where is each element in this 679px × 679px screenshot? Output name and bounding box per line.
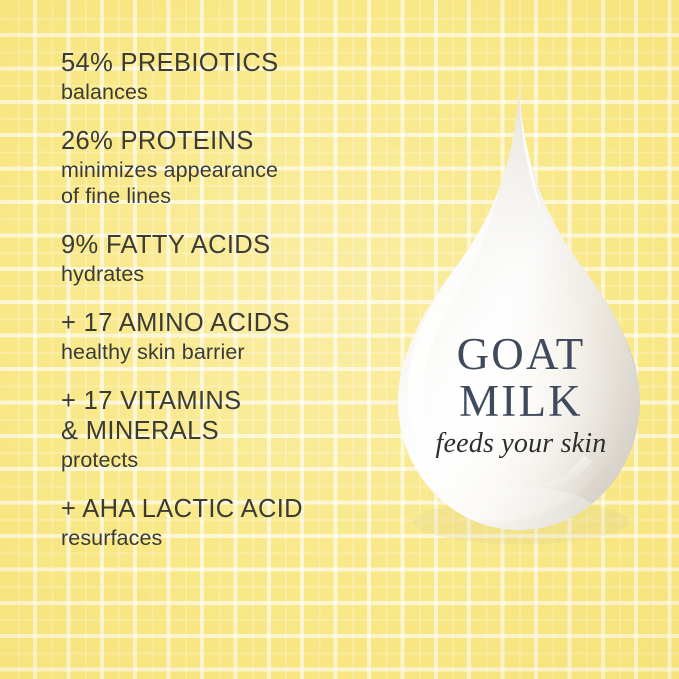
benefit-item-aha-lactic-acid: + AHA LACTIC ACID resurfaces bbox=[61, 494, 381, 551]
benefit-description: protects bbox=[61, 447, 381, 473]
benefit-title: 9% FATTY ACIDS bbox=[61, 230, 381, 260]
benefit-description: resurfaces bbox=[61, 525, 381, 551]
benefit-title: + 17 VITAMINS & MINERALS bbox=[61, 386, 381, 446]
benefit-title: + 17 AMINO ACIDS bbox=[61, 308, 381, 338]
benefit-description: minimizes appearance of fine lines bbox=[61, 157, 381, 209]
benefit-title: + AHA LACTIC ACID bbox=[61, 494, 381, 524]
benefit-description: hydrates bbox=[61, 261, 381, 287]
milk-droplet-illustration: GOAT MILK feeds your skin bbox=[378, 60, 664, 550]
benefit-description: healthy skin barrier bbox=[61, 339, 381, 365]
goat-milk-benefits-poster: 54% PREBIOTICS balances 26% PROTEINS min… bbox=[0, 0, 679, 679]
benefit-item-vitamins-minerals: + 17 VITAMINS & MINERALS protects bbox=[61, 386, 381, 473]
droplet-left-shading bbox=[378, 60, 664, 550]
benefit-description: balances bbox=[61, 79, 381, 105]
benefit-item-fatty-acids: 9% FATTY ACIDS hydrates bbox=[61, 230, 381, 287]
benefits-list: 54% PREBIOTICS balances 26% PROTEINS min… bbox=[61, 48, 381, 551]
benefit-item-proteins: 26% PROTEINS minimizes appearance of fin… bbox=[61, 126, 381, 209]
benefit-title: 54% PREBIOTICS bbox=[61, 48, 381, 78]
benefit-title: 26% PROTEINS bbox=[61, 126, 381, 156]
milk-droplet-icon bbox=[378, 60, 664, 550]
benefit-item-prebiotics: 54% PREBIOTICS balances bbox=[61, 48, 381, 105]
benefit-item-amino-acids: + 17 AMINO ACIDS healthy skin barrier bbox=[61, 308, 381, 365]
